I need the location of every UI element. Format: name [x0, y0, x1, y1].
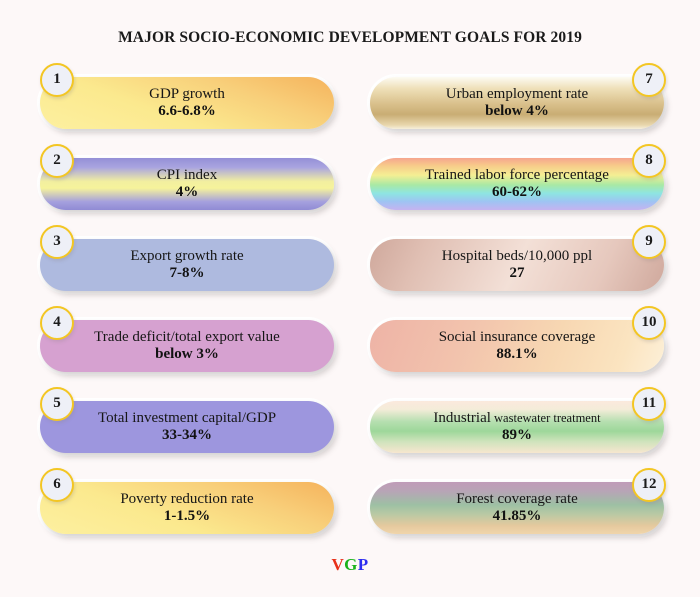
- goal-label-11-primary: Industrial: [433, 410, 491, 426]
- goal-value-10: 88.1%: [496, 346, 537, 363]
- goal-card-3[interactable]: Export growth rate 7-8%: [40, 239, 334, 291]
- goal-badge-4: 4: [40, 306, 74, 340]
- vgp-logo-v: V: [331, 555, 344, 574]
- goal-label-1: GDP growth: [149, 86, 225, 103]
- goal-label-8: Trained labor force percentage: [425, 167, 609, 184]
- goal-card-1[interactable]: GDP growth 6.6-6.8%: [40, 77, 334, 129]
- goal-item-9[interactable]: Hospital beds/10,000 ppl 27 9: [362, 225, 672, 306]
- goal-label-6: Poverty reduction rate: [120, 491, 253, 508]
- goal-card-12[interactable]: Forest coverage rate 41.85%: [370, 482, 664, 534]
- goal-card-6[interactable]: Poverty reduction rate 1-1.5%: [40, 482, 334, 534]
- goal-label-9: Hospital beds/10,000 ppl: [442, 248, 592, 265]
- goal-label-2: CPI index: [157, 167, 217, 184]
- goal-item-3[interactable]: Export growth rate 7-8% 3: [32, 225, 342, 306]
- goal-value-4: below 3%: [155, 346, 219, 363]
- goal-value-3: 7-8%: [170, 265, 205, 282]
- goal-value-1: 6.6-6.8%: [158, 103, 216, 120]
- goal-badge-11: 11: [632, 387, 666, 421]
- goal-columns: GDP growth 6.6-6.8% 1 CPI index 4% 2 Exp…: [0, 46, 700, 549]
- vgp-logo: VGP: [0, 555, 700, 575]
- goal-badge-2: 2: [40, 144, 74, 178]
- right-goal-column: Urban employment rate below 4% 7 Trained…: [362, 63, 672, 549]
- goal-badge-7: 7: [632, 63, 666, 97]
- goal-badge-3: 3: [40, 225, 74, 259]
- goal-value-6: 1-1.5%: [164, 508, 210, 525]
- goal-item-10[interactable]: Social insurance coverage 88.1% 10: [362, 306, 672, 387]
- goal-badge-9: 9: [632, 225, 666, 259]
- goal-item-4[interactable]: Trade deficit/total export value below 3…: [32, 306, 342, 387]
- goal-badge-8: 8: [632, 144, 666, 178]
- goal-card-10[interactable]: Social insurance coverage 88.1%: [370, 320, 664, 372]
- goal-label-11: Industrial wastewater treatment: [433, 410, 600, 427]
- goal-value-7: below 4%: [485, 103, 549, 120]
- goal-item-7[interactable]: Urban employment rate below 4% 7: [362, 63, 672, 144]
- goal-card-9[interactable]: Hospital beds/10,000 ppl 27: [370, 239, 664, 291]
- goal-item-1[interactable]: GDP growth 6.6-6.8% 1: [32, 63, 342, 144]
- goal-label-3: Export growth rate: [130, 248, 243, 265]
- goal-card-7[interactable]: Urban employment rate below 4%: [370, 77, 664, 129]
- goal-value-5: 33-34%: [162, 427, 212, 444]
- page-title: MAJOR SOCIO-ECONOMIC DEVELOPMENT GOALS F…: [0, 0, 700, 46]
- goal-badge-1: 1: [40, 63, 74, 97]
- goal-card-5[interactable]: Total investment capital/GDP 33-34%: [40, 401, 334, 453]
- vgp-logo-p: P: [358, 555, 369, 574]
- goal-item-11[interactable]: Industrial wastewater treatment 89% 11: [362, 387, 672, 468]
- goal-item-12[interactable]: Forest coverage rate 41.85% 12: [362, 468, 672, 549]
- goal-label-10: Social insurance coverage: [439, 329, 596, 346]
- left-goal-column: GDP growth 6.6-6.8% 1 CPI index 4% 2 Exp…: [32, 63, 342, 549]
- goal-item-5[interactable]: Total investment capital/GDP 33-34% 5: [32, 387, 342, 468]
- goal-item-8[interactable]: Trained labor force percentage 60-62% 8: [362, 144, 672, 225]
- goal-label-12: Forest coverage rate: [456, 491, 578, 508]
- goal-label-11-secondary: wastewater treatment: [491, 411, 601, 425]
- goal-badge-12: 12: [632, 468, 666, 502]
- goal-item-2[interactable]: CPI index 4% 2: [32, 144, 342, 225]
- goal-badge-5: 5: [40, 387, 74, 421]
- goal-card-2[interactable]: CPI index 4%: [40, 158, 334, 210]
- goal-value-2: 4%: [176, 184, 199, 201]
- goal-value-9: 27: [510, 265, 525, 282]
- goal-value-11: 89%: [502, 427, 532, 444]
- goal-value-12: 41.85%: [493, 508, 542, 525]
- goal-card-11[interactable]: Industrial wastewater treatment 89%: [370, 401, 664, 453]
- vgp-logo-g: G: [344, 555, 358, 574]
- goal-card-8[interactable]: Trained labor force percentage 60-62%: [370, 158, 664, 210]
- goal-label-4: Trade deficit/total export value: [94, 329, 280, 346]
- infographic-root: MAJOR SOCIO-ECONOMIC DEVELOPMENT GOALS F…: [0, 0, 700, 597]
- goal-card-4[interactable]: Trade deficit/total export value below 3…: [40, 320, 334, 372]
- goal-badge-6: 6: [40, 468, 74, 502]
- goal-label-7: Urban employment rate: [446, 86, 588, 103]
- goal-value-8: 60-62%: [492, 184, 542, 201]
- goal-label-5: Total investment capital/GDP: [98, 410, 276, 427]
- goal-badge-10: 10: [632, 306, 666, 340]
- goal-item-6[interactable]: Poverty reduction rate 1-1.5% 6: [32, 468, 342, 549]
